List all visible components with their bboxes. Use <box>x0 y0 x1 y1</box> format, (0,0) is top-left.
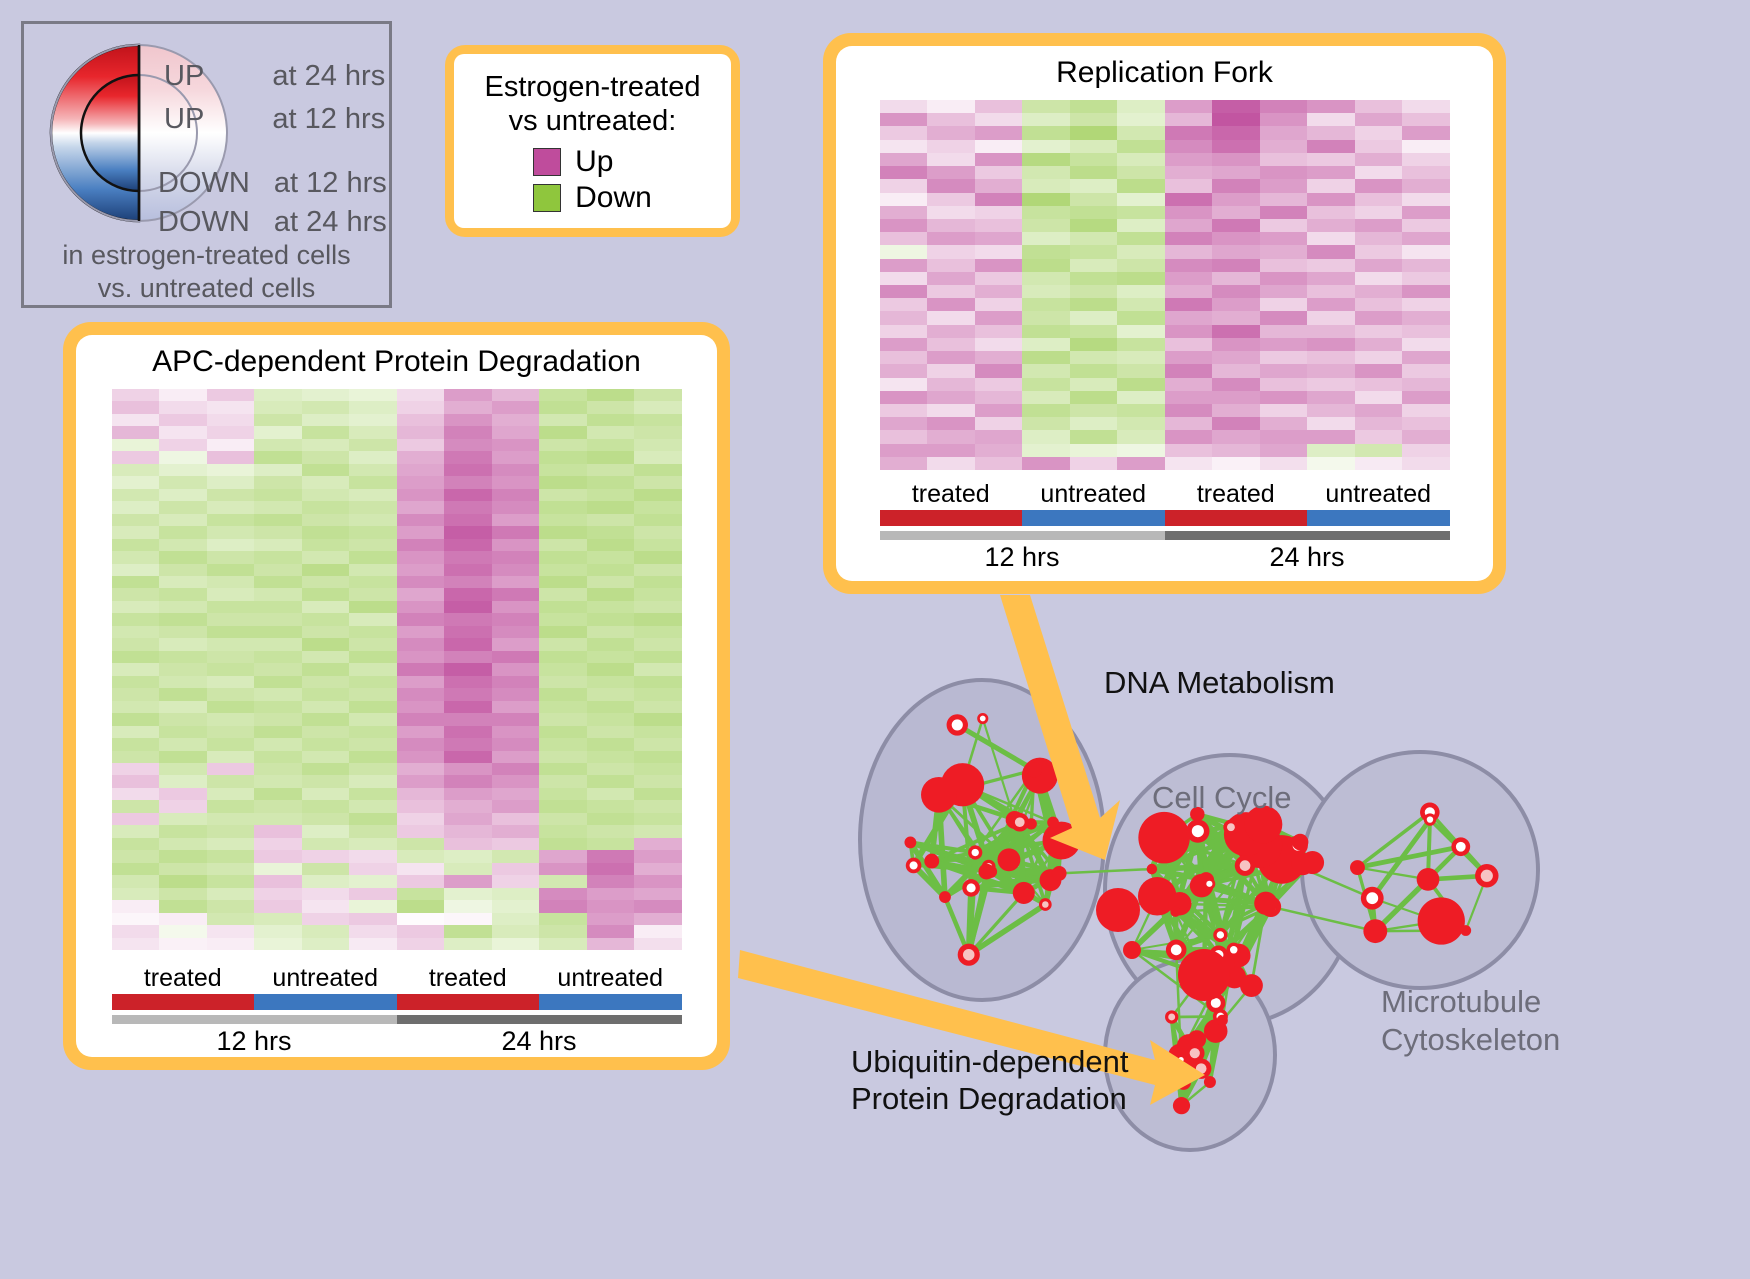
heatmap-cell <box>444 825 492 837</box>
heatmap-cell <box>159 813 207 825</box>
heatmap-cell <box>1307 140 1355 153</box>
heatmap-cell <box>1165 153 1213 166</box>
heatmap-cell <box>349 426 397 438</box>
heatmap-cell <box>349 850 397 862</box>
network-node[interactable] <box>1170 907 1180 917</box>
axis-group-label: untreated <box>539 964 682 993</box>
heatmap-cell <box>587 526 635 538</box>
heatmap-cell <box>1260 285 1308 298</box>
legend-time: at 24 hrs <box>272 60 385 93</box>
heatmap-cell <box>1402 179 1450 192</box>
heatmap-cell <box>1022 364 1070 377</box>
heatmap-cell <box>254 539 302 551</box>
heatmap-cell <box>444 713 492 725</box>
heatmap-cell <box>207 676 255 688</box>
heatmap-cell <box>302 476 350 488</box>
bar-24hrs <box>1165 531 1450 540</box>
network-node[interactable] <box>924 854 939 869</box>
heatmap-cell <box>539 451 587 463</box>
heatmap-cell <box>587 888 635 900</box>
heatmap-cell <box>444 526 492 538</box>
network-node[interactable] <box>1165 1010 1178 1023</box>
heatmap-cell <box>1355 364 1403 377</box>
heatmap-cell <box>634 913 682 925</box>
network-node[interactable] <box>1204 1076 1216 1088</box>
network-node[interactable] <box>997 848 1020 871</box>
heatmap-cell <box>1070 378 1118 391</box>
heatmap-cell <box>159 551 207 563</box>
heatmap-cell <box>492 688 540 700</box>
heatmap-cell <box>1022 232 1070 245</box>
heatmap-cell <box>1260 298 1308 311</box>
heatmap-cell <box>539 775 587 787</box>
heatmap-cell <box>1070 245 1118 258</box>
heatmap-cell <box>254 414 302 426</box>
heatmap-cell <box>112 925 160 937</box>
heatmap-cell <box>302 389 350 401</box>
heatmap-cell <box>539 913 587 925</box>
network-node[interactable] <box>939 891 951 903</box>
heatmap-cell <box>444 576 492 588</box>
heatmap-cell <box>112 738 160 750</box>
heatmap-cell <box>349 813 397 825</box>
heatmap-cell <box>1260 126 1308 139</box>
heatmap-cell <box>587 751 635 763</box>
network-node[interactable] <box>1013 882 1035 904</box>
heatmap-cell <box>975 404 1023 417</box>
heatmap-cell <box>634 701 682 713</box>
network-node[interactable] <box>1185 1043 1205 1063</box>
heatmap-cell <box>349 875 397 887</box>
heatmap-cell <box>975 113 1023 126</box>
network-node[interactable] <box>904 836 916 848</box>
heatmap-cell <box>1307 391 1355 404</box>
network-node[interactable] <box>1254 892 1277 915</box>
heatmap-cell <box>1260 140 1308 153</box>
network-node[interactable] <box>906 858 922 874</box>
heatmap-cell <box>634 626 682 638</box>
heatmap-cell <box>634 863 682 875</box>
network-node[interactable] <box>1363 919 1387 943</box>
heatmap-cell <box>349 564 397 576</box>
legend-time: at 24 hrs <box>274 206 387 239</box>
heatmap-cell <box>1355 311 1403 324</box>
heatmap-cell <box>112 701 160 713</box>
heatmap-cell <box>1402 298 1450 311</box>
network-node[interactable] <box>968 845 982 859</box>
network-node[interactable] <box>1123 941 1141 959</box>
heatmap-cell <box>492 613 540 625</box>
heatmap-cell <box>1070 285 1118 298</box>
heatmap-cell <box>539 564 587 576</box>
heatmap-cell <box>349 863 397 875</box>
heatmap-cell <box>444 925 492 937</box>
heatmap-cell <box>1402 219 1450 232</box>
heatmap-cell <box>349 401 397 413</box>
heatmap-cell <box>634 489 682 501</box>
heatmap-cell <box>1212 285 1260 298</box>
heatmap-cell <box>587 576 635 588</box>
heatmap-cell <box>159 638 207 650</box>
heatmap-cell <box>207 514 255 526</box>
heatmap-cell <box>444 813 492 825</box>
heatmap-cell <box>1260 364 1308 377</box>
heatmap-cell <box>975 206 1023 219</box>
heatmap-cell <box>1212 100 1260 113</box>
heatmap-cell <box>975 417 1023 430</box>
heatmap-cell <box>587 638 635 650</box>
heatmap-cell <box>254 913 302 925</box>
heatmap-cell <box>492 825 540 837</box>
heatmap-cell <box>1070 126 1118 139</box>
heatmap-cell <box>254 526 302 538</box>
heatmap-cell <box>1070 219 1118 232</box>
heatmap-cell <box>927 153 975 166</box>
heatmap-cell <box>539 713 587 725</box>
heatmap-cell <box>1307 457 1355 470</box>
heatmap-cell <box>302 426 350 438</box>
heatmap-cell <box>254 875 302 887</box>
network-node[interactable] <box>1451 837 1470 856</box>
heatmap-cell <box>634 788 682 800</box>
heatmap-cell <box>159 713 207 725</box>
heatmap-cell <box>302 464 350 476</box>
heatmap-cell <box>254 863 302 875</box>
network-node[interactable] <box>947 714 968 735</box>
heatmap-cell <box>254 825 302 837</box>
network-node[interactable] <box>958 944 980 966</box>
heatmap-cell <box>112 825 160 837</box>
heatmap-cell <box>112 389 160 401</box>
network-node[interactable] <box>1417 868 1440 891</box>
heatmap-cell <box>444 489 492 501</box>
network-node[interactable] <box>1178 949 1230 1001</box>
network-node[interactable] <box>962 879 980 897</box>
heatmap-cell <box>1355 219 1403 232</box>
heatmap-cell <box>880 100 928 113</box>
network-node[interactable] <box>1052 866 1067 881</box>
network-node[interactable] <box>1022 758 1058 794</box>
heatmap-cell <box>880 417 928 430</box>
heatmap-cell <box>112 875 160 887</box>
heatmap-cell <box>349 476 397 488</box>
heatmap-cell <box>1022 311 1070 324</box>
heatmap-cell <box>539 501 587 513</box>
heatmap-cell <box>1260 457 1308 470</box>
heatmap-cell <box>302 564 350 576</box>
network-node[interactable] <box>1240 974 1263 997</box>
heatmap-cell <box>444 564 492 576</box>
heatmap-cell <box>397 551 445 563</box>
network-node[interactable] <box>977 713 988 724</box>
heatmap-cell <box>1117 417 1165 430</box>
bar-treated-12 <box>112 994 255 1010</box>
heatmap-cell <box>112 788 160 800</box>
heatmap-cell <box>1070 206 1118 219</box>
heatmap-cell <box>1355 193 1403 206</box>
network-node[interactable] <box>1166 940 1187 961</box>
heatmap-cell <box>397 626 445 638</box>
network-node[interactable] <box>1027 762 1042 777</box>
heatmap-cell <box>207 825 255 837</box>
heatmap-cell <box>159 476 207 488</box>
heatmap-cell <box>975 325 1023 338</box>
heatmap-cell <box>1070 153 1118 166</box>
heatmap-cell <box>302 439 350 451</box>
heatmap-cell <box>492 900 540 912</box>
heatmap-cell <box>1070 351 1118 364</box>
network-node[interactable] <box>1147 864 1158 875</box>
network-node[interactable] <box>1176 1075 1191 1090</box>
heatmap-cell <box>927 126 975 139</box>
heatmap-cell <box>634 888 682 900</box>
heatmap-cell <box>1070 364 1118 377</box>
heatmap-cell <box>539 414 587 426</box>
heatmap-cell <box>587 913 635 925</box>
heatmap-cell <box>1212 391 1260 404</box>
heatmap-cell <box>492 539 540 551</box>
heatmap-cell <box>587 663 635 675</box>
heatmap-cell <box>1260 351 1308 364</box>
network-node[interactable] <box>1223 820 1238 835</box>
heatmap-cell <box>539 389 587 401</box>
network-node[interactable] <box>1010 813 1029 832</box>
heatmap-cell <box>444 913 492 925</box>
heatmap-cell <box>634 813 682 825</box>
heatmap-cell <box>159 875 207 887</box>
network-node[interactable] <box>921 777 957 813</box>
heatmap-cell <box>880 153 928 166</box>
network-node[interactable] <box>1173 1097 1190 1114</box>
heatmap-cell <box>1355 166 1403 179</box>
heatmap-cell <box>349 626 397 638</box>
heatmap-cell <box>1260 417 1308 430</box>
network-node[interactable] <box>1213 928 1227 942</box>
heatmap-cell <box>1402 259 1450 272</box>
heatmap-cell <box>159 938 207 950</box>
heatmap-cell <box>539 476 587 488</box>
heatmap-cell <box>207 588 255 600</box>
heatmap-cell <box>207 539 255 551</box>
heatmap-cell <box>1165 140 1213 153</box>
heatmap-cell <box>1117 140 1165 153</box>
heatmap-cell <box>397 688 445 700</box>
heatmap-cell <box>1307 153 1355 166</box>
heatmap-cell <box>159 651 207 663</box>
network-node[interactable] <box>1217 1015 1228 1026</box>
heatmap-cell <box>112 526 160 538</box>
heatmap-cell <box>302 676 350 688</box>
heatmap-cell <box>634 414 682 426</box>
heatmap-cell <box>1260 430 1308 443</box>
heatmap-cell <box>927 232 975 245</box>
heatmap-cell <box>927 206 975 219</box>
heatmap-cell <box>1355 179 1403 192</box>
heatmap-cell <box>302 726 350 738</box>
heatmap-cell <box>1402 153 1450 166</box>
heatmap-cell <box>444 850 492 862</box>
heatmap-cell <box>1212 430 1260 443</box>
heatmap-cell <box>492 701 540 713</box>
heatmap-cell <box>1022 444 1070 457</box>
heatmap-cell <box>1165 391 1213 404</box>
heatmap-cell <box>254 439 302 451</box>
heatmap-cell <box>975 245 1023 258</box>
heatmap-cell <box>1307 351 1355 364</box>
heatmap-cell <box>1260 113 1308 126</box>
heatmap-cell <box>492 576 540 588</box>
heatmap-cell <box>112 751 160 763</box>
heatmap-cell <box>444 900 492 912</box>
network-node[interactable] <box>1096 888 1140 932</box>
heatmap-cell <box>975 259 1023 272</box>
heatmap-cell <box>975 219 1023 232</box>
heatmap-cell <box>112 576 160 588</box>
heatmap-cell <box>207 651 255 663</box>
up-color-swatch <box>533 148 561 176</box>
heatmap-cell <box>1070 140 1118 153</box>
legend-item-down: Down <box>533 181 652 215</box>
heatmap-cell <box>444 676 492 688</box>
heatmap-cell <box>1402 206 1450 219</box>
heatmap-cell <box>1402 457 1450 470</box>
heatmap-cell <box>302 775 350 787</box>
network-node[interactable] <box>1227 943 1241 957</box>
heatmap-cell <box>539 551 587 563</box>
heatmap-cell <box>349 676 397 688</box>
heatmap-cell <box>587 501 635 513</box>
heatmap-cell <box>1212 457 1260 470</box>
heatmap-cell <box>254 788 302 800</box>
heatmap-cell <box>1212 404 1260 417</box>
heatmap-cell <box>927 100 975 113</box>
heatmap-cell <box>1117 338 1165 351</box>
heatmap-cell <box>880 311 928 324</box>
heatmap-cell <box>159 850 207 862</box>
network-node[interactable] <box>1039 898 1052 911</box>
network-node[interactable] <box>1350 860 1365 875</box>
heatmap-cell <box>349 651 397 663</box>
heatmap-cell <box>254 663 302 675</box>
heatmap-cell <box>159 626 207 638</box>
heatmap-cell <box>1307 100 1355 113</box>
network-node[interactable] <box>1361 887 1384 910</box>
heatmap-cell <box>1355 378 1403 391</box>
heatmap-cell <box>1212 153 1260 166</box>
heatmap-cell <box>1165 298 1213 311</box>
legend-row-1: UP at 12 hrs <box>164 103 385 136</box>
heatmap-cell <box>349 701 397 713</box>
heatmap-cell <box>1307 179 1355 192</box>
network-node[interactable] <box>1235 855 1256 876</box>
heatmap-cell <box>159 663 207 675</box>
heatmap-cell <box>207 850 255 862</box>
heatmap-cell <box>207 439 255 451</box>
heatmap-cell <box>492 925 540 937</box>
heatmap-cell <box>159 389 207 401</box>
heatmap-cell <box>587 551 635 563</box>
heatmap-cell <box>492 501 540 513</box>
network-node[interactable] <box>1292 834 1309 851</box>
cluster-label-ubiquitin-dependent-protein-degradation: Ubiquitin-dependent Protein Degradation <box>851 1043 1129 1117</box>
legend-row-2: DOWN at 12 hrs <box>158 167 387 200</box>
network-node[interactable] <box>1301 851 1324 874</box>
network-node[interactable] <box>1186 820 1209 843</box>
heatmap-cell <box>302 526 350 538</box>
heatmap-cell <box>634 551 682 563</box>
network-node[interactable] <box>1460 925 1471 936</box>
heatmap-cell <box>539 539 587 551</box>
heatmap-cell <box>634 476 682 488</box>
heatmap-cell <box>1307 113 1355 126</box>
heatmap-cell <box>1355 404 1403 417</box>
heatmap-cell <box>444 738 492 750</box>
heatmap-cell <box>1117 166 1165 179</box>
heatmap-cell <box>539 464 587 476</box>
heatmap-cell <box>587 863 635 875</box>
heatmap-cell <box>444 439 492 451</box>
heatmap-cell <box>1260 272 1308 285</box>
network-node[interactable] <box>1203 878 1215 890</box>
legend-caption-line1: in estrogen-treated cells <box>24 239 389 272</box>
heatmap-cell <box>159 888 207 900</box>
panel-title: APC-dependent Protein Degradation <box>152 345 641 379</box>
heatmap-cell <box>1355 232 1403 245</box>
heatmap-cell <box>444 788 492 800</box>
heatmap-cell <box>539 751 587 763</box>
heatmap-cell <box>349 638 397 650</box>
heatmap-cell <box>880 113 928 126</box>
network-node[interactable] <box>978 864 994 880</box>
network-node[interactable] <box>1043 822 1081 860</box>
heatmap-cell <box>397 539 445 551</box>
heatmap-cell <box>349 514 397 526</box>
heatmap-cell <box>302 913 350 925</box>
heatmap-cell <box>1117 272 1165 285</box>
heatmap-cell <box>1307 444 1355 457</box>
heatmap-cell <box>1307 219 1355 232</box>
heatmap-cell <box>1022 391 1070 404</box>
heatmap-cell <box>302 813 350 825</box>
heatmap-cell <box>1117 126 1165 139</box>
heatmap-cell <box>112 913 160 925</box>
network-node[interactable] <box>1475 864 1498 887</box>
heatmap-cell <box>207 389 255 401</box>
time-color-bar <box>880 531 1450 540</box>
heatmap-cell <box>975 100 1023 113</box>
heatmap-cell <box>1212 338 1260 351</box>
heatmap-cell <box>302 514 350 526</box>
heatmap-cell <box>587 925 635 937</box>
network-node[interactable] <box>1047 817 1059 829</box>
heatmap-cell <box>349 800 397 812</box>
network-node[interactable] <box>1424 813 1436 825</box>
heatmap-cell <box>159 564 207 576</box>
heatmap-cell <box>207 688 255 700</box>
heatmap-cell <box>1117 364 1165 377</box>
heatmap-cell <box>1212 259 1260 272</box>
heatmap-cell <box>207 426 255 438</box>
network-node[interactable] <box>1418 897 1465 944</box>
heatmap-cell <box>492 938 540 950</box>
heatmap-cell <box>112 626 160 638</box>
heatmap-cell <box>1260 219 1308 232</box>
network-node[interactable] <box>1138 812 1190 864</box>
heatmap-cell <box>1355 285 1403 298</box>
heatmap-cell <box>397 738 445 750</box>
heatmap-cell <box>880 219 928 232</box>
heatmap-cell <box>539 726 587 738</box>
